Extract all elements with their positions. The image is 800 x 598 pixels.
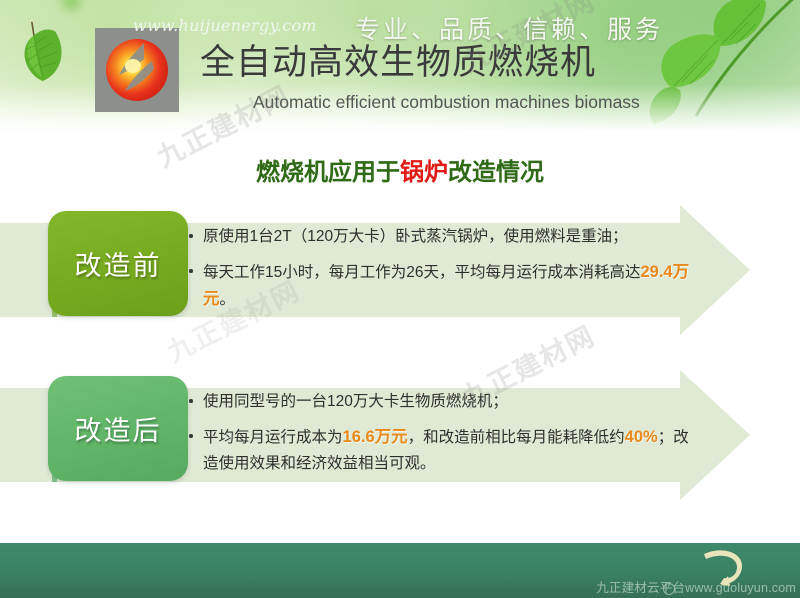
bullet-segment: 平均每月运行成本为 — [203, 429, 343, 446]
footer-slogan: 专业、品质、信赖、服务 — [355, 10, 663, 46]
section-heading-part1: 燃烧机应用于 — [256, 159, 400, 186]
footer-website-url[interactable]: www.huijuenergy.com — [133, 16, 317, 35]
bullet-list-before: 原使用1台2T（120万大卡）卧式蒸汽锅炉，使用燃料是重油； 每天工作15小时，… — [188, 224, 698, 323]
label-box-after-text: 改造后 — [75, 409, 162, 448]
footer-bar: 九正建材云平台www.guoluyun.com — [0, 543, 800, 598]
label-box-after: 改造后 — [48, 376, 188, 481]
bullet-segment: ，和改造前相比每月能耗降低约 — [408, 429, 625, 446]
section-heading-highlight: 锅炉 — [400, 159, 448, 186]
bullet-segment: 每天工作15小时，每月工作为26天，平均每月运行成本消耗高达 — [203, 264, 640, 281]
swirl-arrow-icon — [700, 548, 746, 590]
label-box-before: 改造前 — [48, 211, 188, 316]
bullet-highlight-percent: 40% — [625, 428, 658, 446]
page-subtitle-en: Automatic efficient combustion machines … — [253, 92, 640, 113]
bullet-list-after: 使用同型号的一台120万大卡生物质燃烧机； 平均每月运行成本为16.6万元，和改… — [188, 389, 698, 486]
list-item: 平均每月运行成本为16.6万元，和改造前相比每月能耗降低约40%；改造使用效果和… — [188, 424, 698, 476]
flame-circle-logo-icon — [102, 35, 172, 105]
list-item: 原使用1台2T（120万大卡）卧式蒸汽锅炉，使用燃料是重油； — [188, 224, 698, 249]
list-item: 每天工作15小时，每月工作为26天，平均每月运行成本消耗高达29.4万元。 — [188, 259, 698, 312]
company-logo — [95, 28, 179, 112]
section-heading: 燃烧机应用于锅炉改造情况 — [0, 152, 800, 187]
slide-canvas: 全自动高效生物质燃烧机 Automatic efficient combusti… — [0, 0, 800, 598]
section-heading-part2: 改造情况 — [448, 159, 544, 186]
watermark-site: 九正建材云平台www.guoluyun.com — [596, 577, 796, 596]
bullet-highlight-value: 16.6万元 — [343, 428, 408, 446]
label-box-before-text: 改造前 — [75, 244, 162, 283]
list-item: 使用同型号的一台120万大卡生物质燃烧机； — [188, 389, 698, 414]
bullet-segment: 。 — [220, 291, 236, 308]
bullet-segment: 使用同型号的一台120万大卡生物质燃烧机； — [203, 393, 508, 410]
bullet-segment: 原使用1台2T（120万大卡）卧式蒸汽锅炉，使用燃料是重油； — [203, 228, 628, 245]
